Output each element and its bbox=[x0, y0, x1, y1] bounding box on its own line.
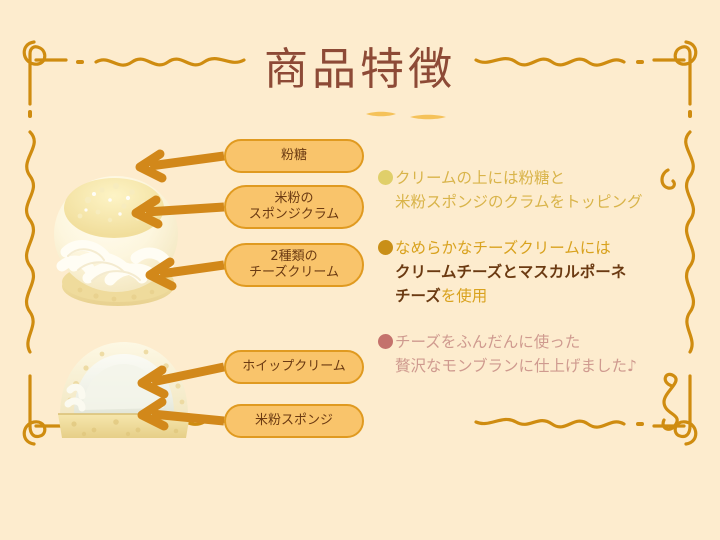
bullet-marker-icon bbox=[378, 334, 393, 349]
callout-label: 米粉スポンジ bbox=[255, 413, 333, 429]
bullet-marker-icon bbox=[378, 240, 393, 255]
callout-label-line: スポンジクラム bbox=[249, 207, 340, 223]
callout-rice-flour-sponge[interactable]: 米粉スポンジ bbox=[224, 404, 364, 438]
bullet-text: 米粉スポンジのクラムをトッピング bbox=[395, 193, 643, 211]
bullet-item-cheese-cream: なめらかなチーズクリームには クリームチーズとマスカルポーネ チーズを使用 bbox=[378, 236, 698, 308]
callout-whipped-cream[interactable]: ホイップクリーム bbox=[224, 350, 364, 384]
title-underline-dashes bbox=[0, 106, 720, 124]
bullet-text: チーズをふんだんに使った bbox=[395, 333, 580, 351]
bullet-text: なめらかなチーズクリームには bbox=[395, 239, 611, 257]
bullet-item-topping: クリームの上には粉糖と 米粉スポンジのクラムをトッピング bbox=[378, 166, 698, 214]
callout-label-line: 2種類の bbox=[249, 249, 339, 265]
callout-label-line: チーズクリーム bbox=[249, 265, 339, 281]
callout-label: ホイップクリーム bbox=[242, 359, 346, 375]
bullet-text: 贅沢なモンブランに仕上げました♪ bbox=[395, 357, 637, 375]
callout-powdered-sugar[interactable]: 粉糖 bbox=[224, 139, 364, 173]
mont-blanc-cake-photo bbox=[44, 166, 192, 311]
bullet-text: を使用 bbox=[441, 287, 488, 305]
bullet-item-mont-blanc: チーズをふんだんに使った 贅沢なモンブランに仕上げました♪ bbox=[378, 330, 698, 378]
title-block: 商品特徴 bbox=[0, 46, 720, 94]
cake-cross-section-photo bbox=[48, 338, 200, 448]
bullet-marker-icon bbox=[378, 170, 393, 185]
feature-bullet-list: クリームの上には粉糖と 米粉スポンジのクラムをトッピング なめらかなチーズクリー… bbox=[378, 166, 698, 400]
callout-label: 粉糖 bbox=[281, 148, 307, 164]
callout-rice-flour-sponge-crumb[interactable]: 米粉の スポンジクラム bbox=[224, 185, 364, 229]
callout-label-line: 米粉の bbox=[249, 191, 340, 207]
bullet-text-emphasis: クリームチーズとマスカルポーネ bbox=[395, 263, 626, 281]
page-title: 商品特徴 bbox=[0, 46, 720, 94]
bullet-text-emphasis: チーズ bbox=[395, 287, 441, 305]
product-feature-slide: 商品特徴 bbox=[0, 0, 720, 540]
callout-two-cheese-creams[interactable]: 2種類の チーズクリーム bbox=[224, 243, 364, 287]
bullet-text: クリームの上には粉糖と bbox=[395, 169, 565, 187]
